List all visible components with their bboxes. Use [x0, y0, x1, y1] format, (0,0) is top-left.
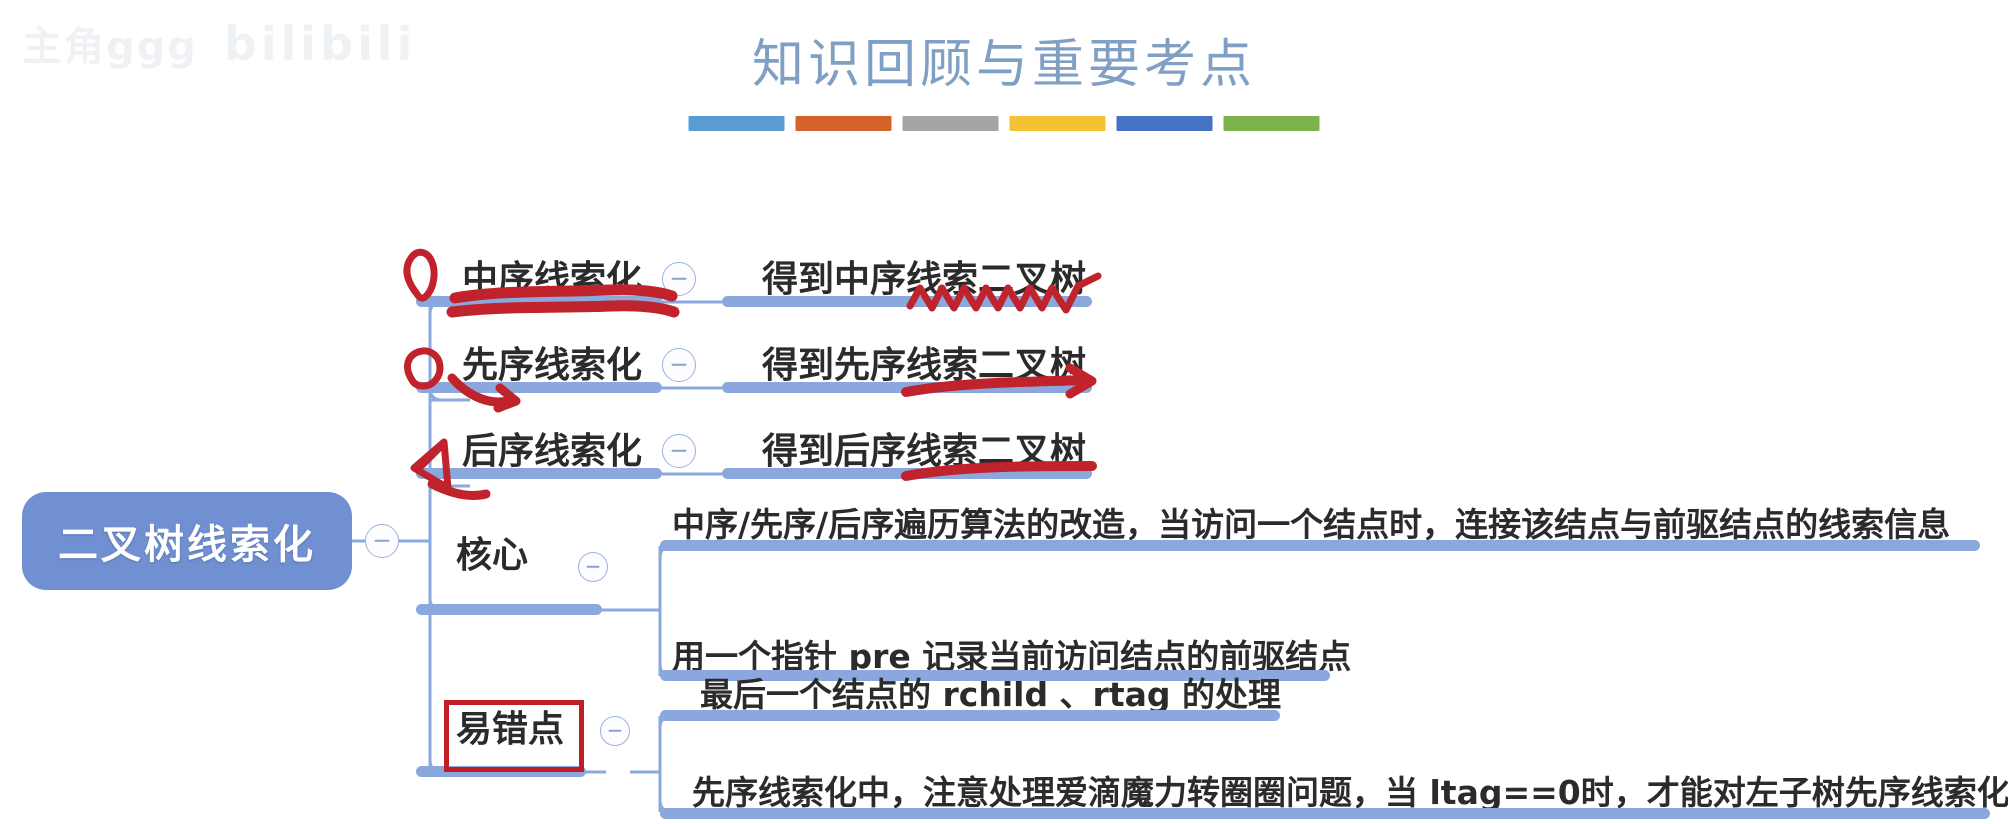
node-label-xianxu-child[interactable]: 得到先序线索二叉树: [762, 348, 1086, 384]
node-label-houxu-child[interactable]: 得到后序线索二叉树: [762, 434, 1086, 470]
node-underline-xianxu: [416, 382, 662, 393]
node-underline-houxu-child: [722, 468, 1092, 479]
color-bar-5: [1224, 116, 1320, 131]
node-underline-houxu: [416, 468, 662, 479]
node-label-hexin-child-0[interactable]: 中序/先序/后序遍历算法的改造，当访问一个结点时，连接该结点与前驱结点的线索信息: [672, 508, 1950, 541]
node-underline-hexin: [416, 604, 602, 615]
node-underline-hexin-child-0: [660, 540, 1980, 551]
node-underline-yicuodian-child-1: [660, 808, 1990, 819]
node-label-hexin[interactable]: 核心: [456, 538, 528, 574]
node-label-yicuodian-child-1[interactable]: 先序线索化中，注意处理爱滴魔力转圈圈问题，当 ltag==0时，才能对左子树先序…: [692, 776, 2008, 809]
node-underline-zhongxu-child: [722, 296, 1092, 307]
minus-circle-icon-houxu[interactable]: [662, 434, 696, 468]
minus-circle-icon-zhongxu[interactable]: [662, 262, 696, 296]
node-label-zhongxu[interactable]: 中序线索化: [462, 262, 642, 298]
slide-canvas: 主角gggbilibili 知识回顾与重要考点: [0, 0, 2008, 824]
minus-circle-icon-root[interactable]: [365, 524, 399, 558]
color-bar-4: [1117, 116, 1213, 131]
minus-circle-icon-yicuodian[interactable]: [600, 716, 630, 746]
node-underline-zhongxu: [416, 296, 662, 307]
node-label-yicuodian-child-0[interactable]: 最后一个结点的 rchild 、rtag 的处理: [700, 678, 1281, 711]
node-underline-xianxu-child: [722, 382, 1092, 393]
node-underline-yicuodian-child-0: [660, 710, 1280, 721]
color-bar-1: [796, 116, 892, 131]
minus-circle-icon-xianxu[interactable]: [662, 348, 696, 382]
page-title: 知识回顾与重要考点: [0, 22, 2008, 97]
mindmap-root-node[interactable]: 二叉树线索化: [22, 492, 352, 590]
minus-circle-icon-hexin[interactable]: [578, 552, 608, 582]
node-label-hexin-child-1[interactable]: 用一个指针 pre 记录当前访问结点的前驱结点: [672, 640, 1351, 673]
color-bar-0: [689, 116, 785, 131]
annotation-red-rectangle: [444, 700, 584, 772]
node-label-xianxu[interactable]: 先序线索化: [462, 348, 642, 384]
color-bar-3: [1010, 116, 1106, 131]
node-label-houxu[interactable]: 后序线索化: [462, 434, 642, 470]
color-bar-2: [903, 116, 999, 131]
color-bar-strip: [689, 116, 1320, 131]
node-label-zhongxu-child[interactable]: 得到中序线索二叉树: [762, 262, 1086, 298]
